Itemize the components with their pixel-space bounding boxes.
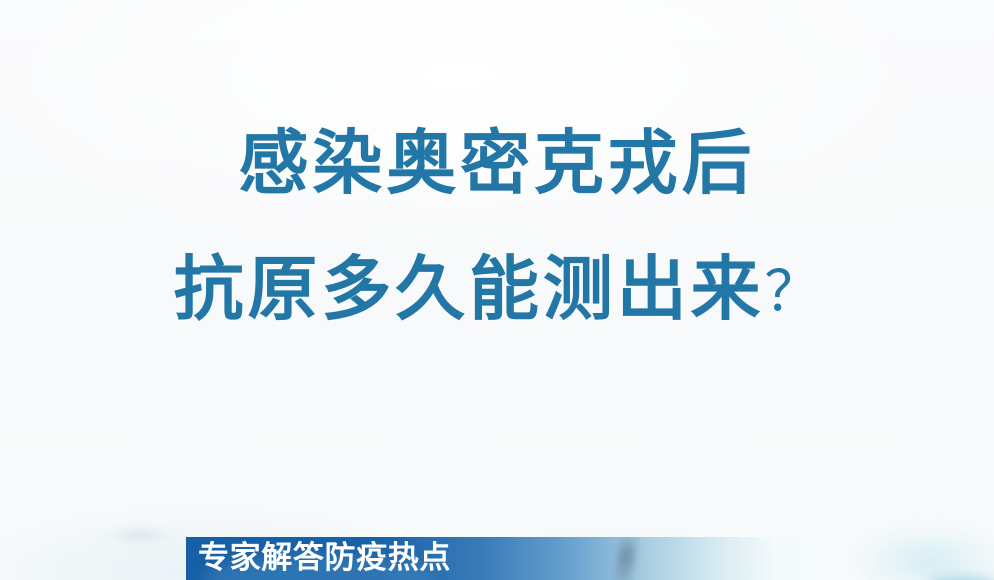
lower-third-banner: 专家解答防疫热点 — [186, 537, 994, 580]
title-card: 感染奥密克戎后 抗原多久能测出来？ 专家解答防疫热点 — [0, 0, 994, 580]
headline-line-2: 抗原多久能测出来？ — [0, 254, 994, 324]
headline-line-2-text: 抗原多久能测出来 — [174, 248, 765, 330]
decorative-blob-left — [96, 524, 182, 546]
headline-question-mark: ？ — [764, 260, 820, 325]
headline-line-1: 感染奥密克戎后 — [0, 128, 994, 198]
banner-label: 专家解答防疫热点 — [198, 537, 451, 580]
headline-block: 感染奥密克戎后 抗原多久能测出来？ — [0, 128, 994, 324]
